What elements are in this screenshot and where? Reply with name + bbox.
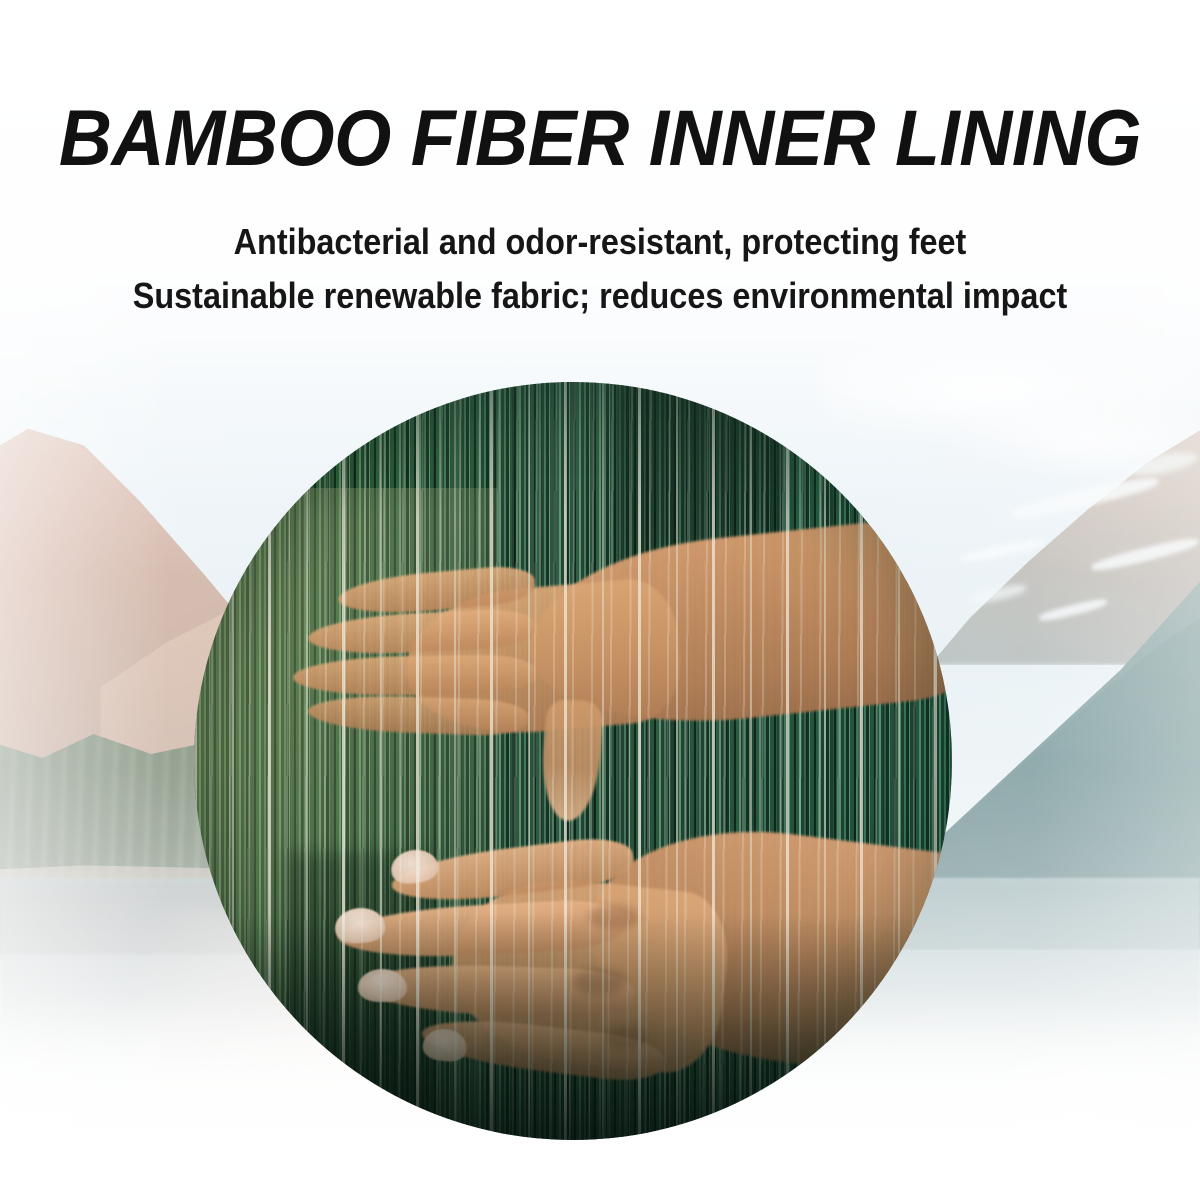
- page-title: BAMBOO FIBER INNER LINING: [42, 98, 1158, 178]
- bamboo-fiber-weaving-photo: [194, 382, 952, 1140]
- inset-vignette: [194, 382, 952, 1140]
- product-feature-banner: BAMBOO FIBER INNER LINING Antibacterial …: [0, 0, 1200, 1200]
- headline-block: BAMBOO FIBER INNER LINING Antibacterial …: [0, 0, 1200, 340]
- subheading-line-2: Sustainable renewable fabric; reduces en…: [60, 276, 1140, 316]
- subheading-line-1: Antibacterial and odor-resistant, protec…: [60, 222, 1140, 262]
